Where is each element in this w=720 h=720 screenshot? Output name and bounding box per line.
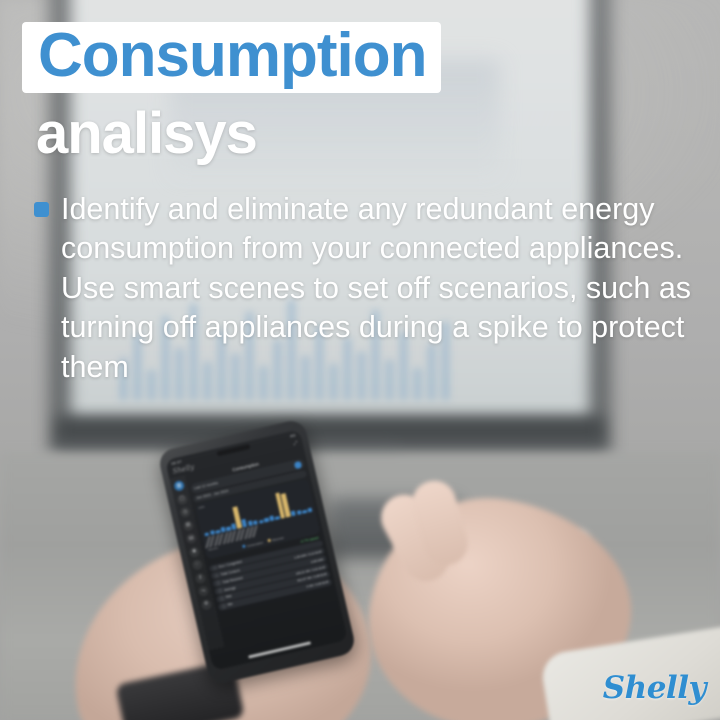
square-bullet-icon [34, 202, 49, 217]
shelly-logo: Shelly [603, 670, 706, 706]
bullet-item: Identify and eliminate any redundant ene… [34, 190, 704, 387]
poster-canvas: 18:37 4G Shelly ⤢ ▥ ▢ ◷ ▤ 🜲 ◉ ♡ [0, 0, 720, 720]
bullet-text: Identify and eliminate any redundant ene… [61, 190, 701, 387]
headline-line-2: analisys [36, 104, 257, 163]
headline-box: Consumption [22, 22, 441, 93]
headline-line-1: Consumption [38, 24, 427, 87]
text-overlay: Consumption analisys Identify and elimin… [0, 0, 720, 720]
